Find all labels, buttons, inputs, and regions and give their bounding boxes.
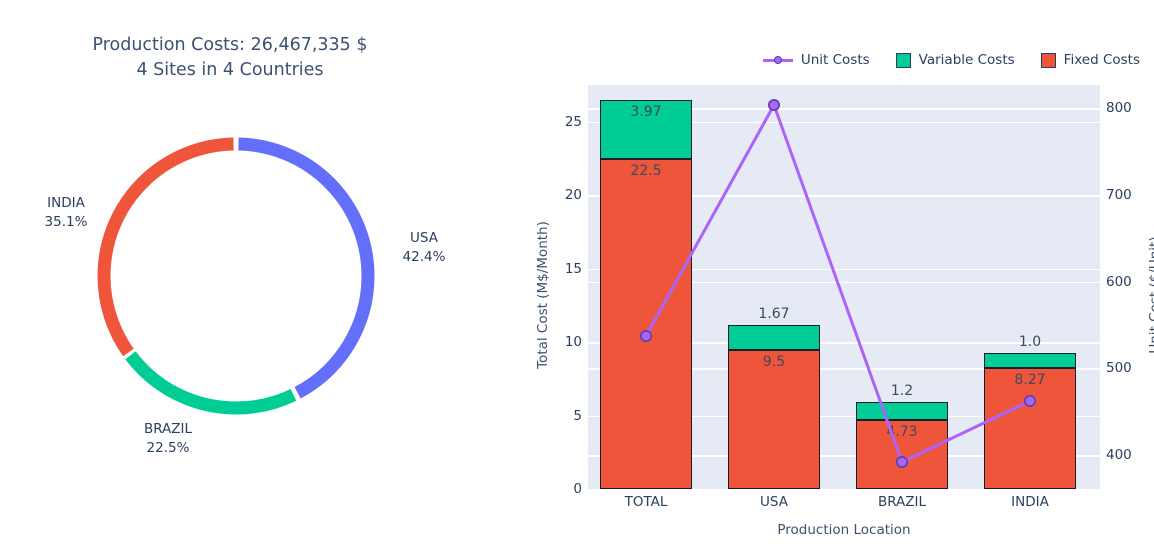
y-axis-left-title: Total Cost (M$/Month) — [535, 145, 551, 445]
unit-costs-point-brazil[interactable] — [897, 457, 907, 467]
bar-chart-panel: Unit Costs Variable Costs Fixed Costs 0 … — [520, 0, 1154, 553]
y-axis-right-ticks: 400 500 600 700 800 — [1106, 85, 1152, 489]
y-tick-left-0: 0 — [573, 481, 582, 497]
legend-item-fixed-costs[interactable]: Fixed Costs — [1041, 52, 1140, 68]
x-tick-usa: USA — [719, 494, 829, 510]
unit-costs-point-usa[interactable] — [769, 100, 779, 110]
donut-chart-panel: Production Costs: 26,467,335 $ 4 Sites i… — [0, 0, 520, 553]
y-tick-right-500: 500 — [1106, 360, 1132, 376]
x-axis-ticks: TOTAL USA BRAZIL INDIA — [588, 494, 1100, 514]
swatch-icon-variable-costs — [896, 53, 911, 68]
legend-label-unit-costs: Unit Costs — [801, 52, 870, 68]
donut-svg — [88, 128, 384, 424]
unit-costs-point-india[interactable] — [1025, 396, 1035, 406]
x-axis-title: Production Location — [588, 522, 1100, 538]
unit-costs-point-total[interactable] — [641, 331, 651, 341]
legend-label-variable-costs: Variable Costs — [919, 52, 1015, 68]
swatch-icon-fixed-costs — [1041, 53, 1056, 68]
unit-costs-polyline — [646, 105, 1030, 462]
donut-chart-title: Production Costs: 26,467,335 $ 4 Sites i… — [0, 33, 460, 83]
y-axis-right-title: Unit Cost ($/Unit) — [1147, 145, 1154, 445]
line-marker-icon — [763, 54, 793, 66]
chart-legend: Unit Costs Variable Costs Fixed Costs — [763, 52, 1140, 68]
y-tick-right-800: 800 — [1106, 100, 1132, 116]
donut-label-brazil: BRAZIL 22.5% — [110, 420, 226, 458]
y-tick-left-10: 10 — [565, 334, 582, 350]
x-tick-total: TOTAL — [591, 494, 701, 510]
y-tick-left-15: 15 — [565, 261, 582, 277]
legend-label-fixed-costs: Fixed Costs — [1064, 52, 1140, 68]
donut-chart — [88, 128, 384, 424]
y-tick-left-5: 5 — [573, 408, 582, 424]
y-tick-right-600: 600 — [1106, 274, 1132, 290]
donut-label-india: INDIA 35.1% — [28, 194, 104, 232]
plot-area: 22.5 3.97 9.5 1.67 4.73 1.2 8.27 — [588, 85, 1100, 489]
gridline-0 — [588, 489, 1100, 491]
x-tick-brazil: BRAZIL — [847, 494, 957, 510]
donut-label-usa: USA 42.4% — [388, 229, 460, 267]
legend-item-variable-costs[interactable]: Variable Costs — [896, 52, 1015, 68]
unit-costs-line — [588, 85, 1100, 489]
y-tick-left-25: 25 — [565, 114, 582, 130]
x-tick-india: INDIA — [975, 494, 1085, 510]
legend-item-unit-costs[interactable]: Unit Costs — [763, 52, 870, 68]
y-tick-right-700: 700 — [1106, 187, 1132, 203]
y-tick-right-400: 400 — [1106, 447, 1132, 463]
y-tick-left-20: 20 — [565, 187, 582, 203]
